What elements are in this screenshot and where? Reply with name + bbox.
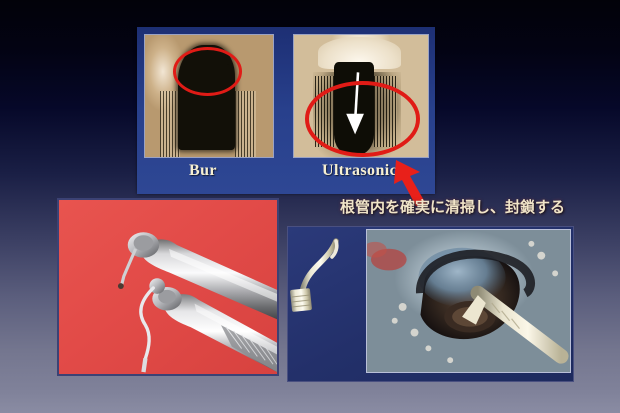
red-highlight-ellipse: [173, 47, 242, 96]
apicoectomy-surgical-site-photo: [366, 229, 571, 373]
presentation-slide: Bur Ultrasonic 根管内を確実に清掃し、封鎖する: [0, 0, 620, 413]
dentin-tubule-stripe-left: [160, 91, 179, 157]
red-highlight-ellipse: [305, 81, 420, 157]
dental-handpieces-photo: [57, 198, 279, 376]
ultrasonic-retro-tip-photo: [287, 226, 574, 382]
comparison-panel: Bur Ultrasonic: [137, 27, 435, 194]
dentin-tubule-stripe-right: [235, 91, 257, 157]
histology-bur-root-canal: [144, 34, 274, 158]
japanese-caption: 根管内を確実に清掃し、封鎖する: [340, 196, 565, 217]
label-ultrasonic: Ultrasonic: [322, 162, 397, 180]
label-bur: Bur: [189, 162, 217, 180]
surgical-site-illustration: [367, 230, 570, 372]
retro-tip-illustration: [288, 227, 365, 382]
handpieces-illustration: [59, 200, 277, 374]
histology-ultrasonic-root-canal: [293, 34, 429, 158]
tip-shank: [302, 241, 336, 293]
